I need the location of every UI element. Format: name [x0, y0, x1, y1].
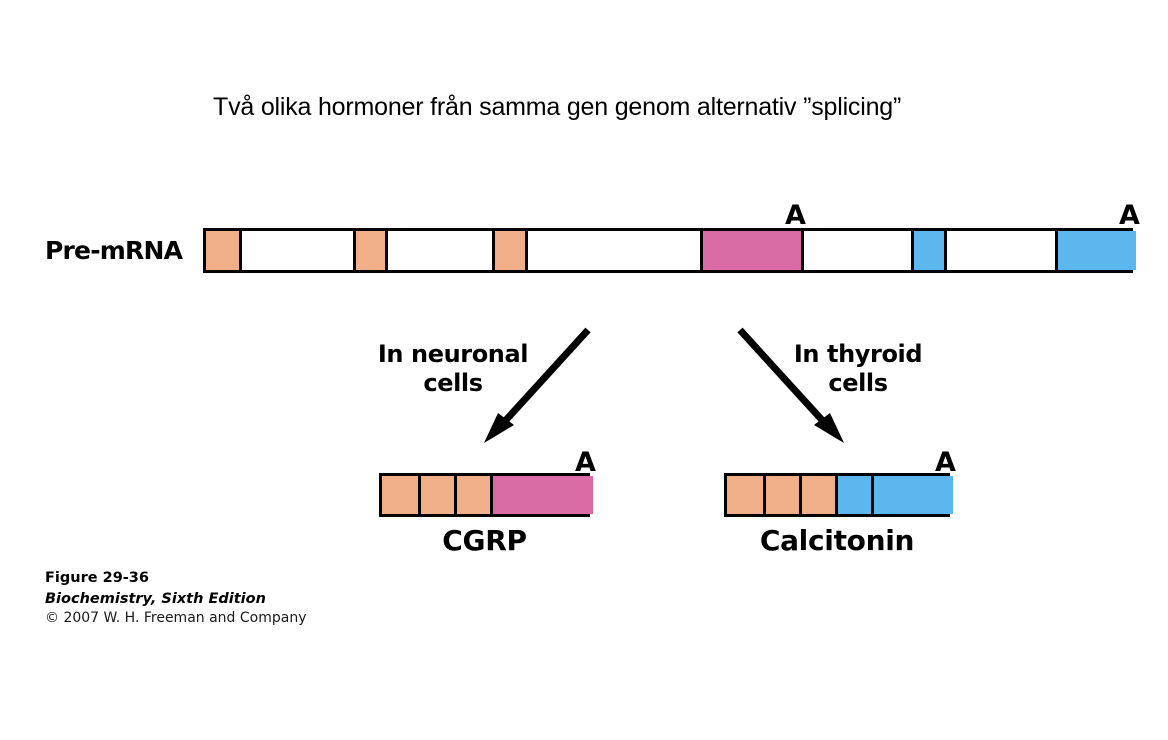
- caption-copyright: © 2007 W. H. Freeman and Company: [45, 609, 465, 629]
- calcitonin-label: Calcitonin: [724, 524, 950, 557]
- segment-exon-4-cgrp: [700, 231, 801, 270]
- pre-mrna-track: [203, 228, 1133, 273]
- segment-exon-2: [418, 476, 454, 514]
- segment-exon-3: [799, 476, 835, 514]
- segment-exon-3: [492, 231, 525, 270]
- segment-intron-2: [385, 231, 492, 270]
- figure-title: Två olika hormoner från samma gen genom …: [213, 93, 901, 122]
- cgrp-label: CGRP: [379, 524, 590, 557]
- neuronal-branch-label: In neuronal cells: [363, 340, 543, 399]
- cgrp-track: [379, 473, 590, 517]
- segment-exon-5-calcitonin: [911, 231, 944, 270]
- segment-exon-1: [206, 231, 239, 270]
- segment-intron-5: [944, 231, 1055, 270]
- segment-exon-3: [454, 476, 490, 514]
- segment-intron-3: [525, 231, 700, 270]
- segment-intron-1: [239, 231, 353, 270]
- caption-book-title: Biochemistry, Sixth Edition: [45, 589, 465, 610]
- poly-a-marker-calcitonin-site: A: [1119, 202, 1140, 229]
- thyroid-branch-label: In thyroid cells: [768, 340, 948, 399]
- segment-exon-4-cgrp: [490, 476, 593, 514]
- calcitonin-track: [724, 473, 950, 517]
- poly-a-marker-cgrp-site: A: [785, 202, 806, 229]
- segment-exon-6-calcitonin: [871, 476, 953, 514]
- segment-exon-5-calcitonin: [835, 476, 871, 514]
- poly-a-marker-calcitonin: A: [935, 449, 956, 476]
- caption-block: Figure 29-36 Biochemistry, Sixth Edition…: [45, 568, 465, 629]
- segment-exon-6-calcitonin: [1055, 231, 1136, 270]
- figure-root: Två olika hormoner från samma gen genom …: [0, 0, 1168, 740]
- segment-exon-1: [727, 476, 763, 514]
- poly-a-marker-cgrp: A: [575, 449, 596, 476]
- segment-exon-2: [353, 231, 385, 270]
- caption-figure-number: Figure 29-36: [45, 568, 465, 589]
- segment-intron-4: [801, 231, 911, 270]
- segment-exon-1: [382, 476, 418, 514]
- segment-exon-2: [763, 476, 799, 514]
- pre-mrna-label: Pre-mRNA: [45, 236, 182, 265]
